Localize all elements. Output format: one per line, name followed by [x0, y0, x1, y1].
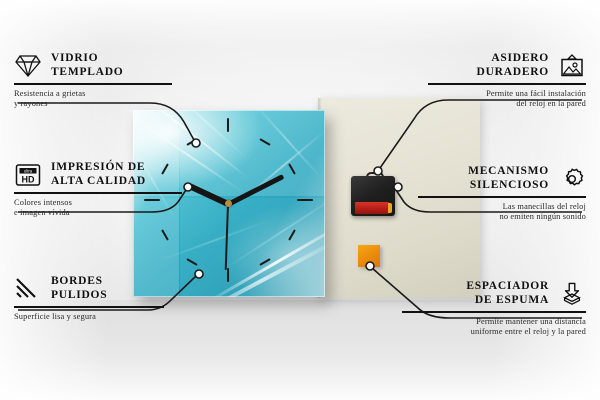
feature-title-line1: IMPRESIÓN DE — [51, 161, 146, 175]
feature-vidrio-templado: VIDRIO TEMPLADO Resistencia a grietas y … — [14, 52, 174, 110]
feature-divider — [14, 306, 164, 308]
gear-icon — [558, 166, 586, 192]
feature-title-line2: SILENCIOSO — [468, 179, 549, 193]
feature-sub-line1: Colores intensos — [14, 198, 184, 209]
feature-title-line2: DE ESPUMA — [466, 294, 549, 308]
feature-divider — [428, 83, 586, 85]
feature-title-line1: ASIDERO — [477, 52, 549, 66]
feature-title-line1: BORDES — [51, 275, 107, 289]
svg-text:HD: HD — [22, 174, 35, 184]
ultra-hd-icon: ultra HD — [14, 162, 42, 188]
feature-title-line1: ESPACIADOR — [466, 280, 549, 294]
feature-title-line2: TEMPLADO — [51, 66, 123, 80]
feature-bordes-pulidos: BORDES PULIDOS Superficie lisa y segura — [14, 275, 166, 322]
foam-spacer-icon — [558, 281, 586, 307]
feature-sub-line2: del reloj en la pared — [426, 99, 586, 110]
feature-sub-line2: no emiten ningún sonido — [416, 212, 586, 223]
feature-title-line2: ALTA CALIDAD — [51, 175, 146, 189]
feature-title-line1: MECANISMO — [468, 165, 549, 179]
feature-sub-line1: Permite mantener una distancia — [400, 317, 586, 328]
feature-asidero-duradero: ASIDERO DURADERO Permite una fácil insta… — [426, 52, 586, 110]
feature-sub-line1: Permite una fácil instalación — [426, 89, 586, 100]
feature-sub-line1: Resistencia a grietas — [14, 89, 174, 100]
svg-text:ultra: ultra — [24, 168, 33, 173]
feature-divider — [14, 192, 182, 194]
feature-divider — [402, 311, 586, 313]
feature-title-line1: VIDRIO — [51, 52, 123, 66]
framed-picture-icon — [558, 53, 586, 79]
feature-espaciador-espuma: ESPACIADOR DE ESPUMA Permite mantener un… — [400, 280, 586, 338]
feature-sub-line2: uniforme entre el reloj y la pared — [400, 327, 586, 338]
feature-sub-line2: e imagen vívida — [14, 208, 184, 219]
feature-divider — [14, 83, 172, 85]
diamond-icon — [14, 53, 42, 79]
feature-divider — [418, 196, 586, 198]
feature-sub-line2: y rayones — [14, 99, 174, 110]
feature-mecanismo-silencioso: MECANISMO SILENCIOSO Las manecillas del … — [416, 165, 586, 223]
feature-title-line2: PULIDOS — [51, 289, 107, 303]
product-infographic: VIDRIO TEMPLADO Resistencia a grietas y … — [0, 0, 600, 400]
feature-title-line2: DURADERO — [477, 66, 549, 80]
feature-sub-line1: Las manecillas del reloj — [416, 202, 586, 213]
polished-edges-icon — [14, 276, 42, 302]
feature-sub-line1: Superficie lisa y segura — [14, 312, 166, 323]
feature-impresion-alta-calidad: ultra HD IMPRESIÓN DE ALTA CALIDAD Color… — [14, 161, 184, 219]
